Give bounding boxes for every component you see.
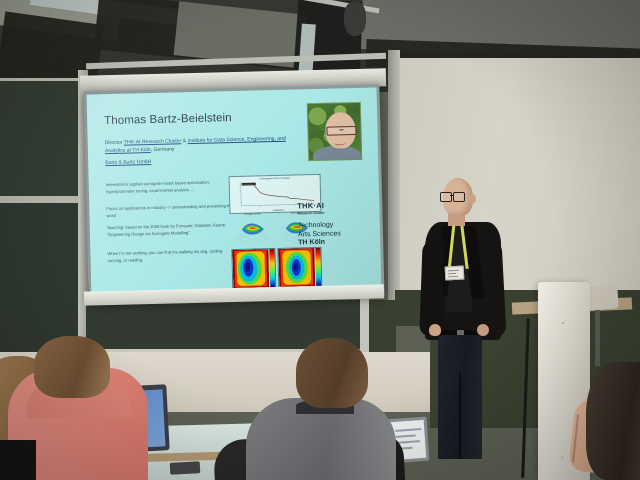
projection-screen: Thomas Bartz-Beielstein Director THK-AI … xyxy=(83,84,384,303)
heatmap-1-colorbar xyxy=(269,249,275,287)
slide-bullet-2: Focus on applications in industry -> und… xyxy=(106,203,234,219)
company-link[interactable]: Bartz & Bartz GmbH xyxy=(105,159,151,166)
th-koeln-logo: Technology Arts Sciences TH Köln xyxy=(298,221,371,248)
desk-leg xyxy=(595,310,600,366)
projector-icon xyxy=(344,2,366,36)
slide-bullet-1: Interested in applied surrogate-model ba… xyxy=(106,179,234,195)
glasses-icon xyxy=(326,126,356,136)
slide-company: Bartz & Bartz GmbH xyxy=(105,159,151,168)
screen-text-line xyxy=(396,440,420,443)
presenter-left-arm xyxy=(419,240,444,337)
screen-text-line xyxy=(396,434,416,437)
slide-title: Thomas Bartz-Beielstein xyxy=(104,112,232,127)
affiliation-link-cluster[interactable]: THK-AI Research Cluster xyxy=(124,138,182,145)
presenter-ear xyxy=(469,194,476,204)
presenter xyxy=(415,178,520,460)
presenter-leg-seam xyxy=(459,373,461,459)
presenter-left-hand xyxy=(429,324,441,336)
screen-text-line xyxy=(395,428,421,431)
glasses-icon xyxy=(440,192,466,200)
slide-bullet-4: When I'm not working, you can find me wa… xyxy=(107,248,235,264)
affiliation-suffix: , Germany xyxy=(151,146,175,153)
slide-bullet-3: Teaching: based on the 2008 book by Forr… xyxy=(107,222,235,238)
slide-affiliation: Director THK-AI Research Cluster & Insti… xyxy=(105,136,295,156)
surface-plot-1-svg xyxy=(232,216,275,247)
audience-member-right-edge xyxy=(586,362,640,480)
heatmap-1-body xyxy=(232,249,269,288)
smartphone[interactable] xyxy=(170,461,201,475)
heatmap-2-body xyxy=(278,248,315,287)
audience-head-brown-hair xyxy=(34,336,110,398)
audience-head-short-hair xyxy=(296,338,368,408)
slide-headshot xyxy=(307,102,362,161)
wall-edge xyxy=(388,50,400,325)
foreground-dark-shape xyxy=(0,440,36,480)
lecture-hall-photo: Thomas Bartz-Beielstein Director THK-AI … xyxy=(0,0,640,480)
logo-line-3: TH Köln xyxy=(298,238,370,248)
thk-logo-block: THK·AI Research Cluster Technology Arts … xyxy=(297,200,370,248)
surface-plot-1: surrogate surface xyxy=(232,216,275,247)
thk-ai-sub: Research Cluster xyxy=(297,210,369,216)
svg-text:evaluations: evaluations xyxy=(273,209,285,212)
name-badge xyxy=(445,266,465,281)
heatmap-1-svg xyxy=(232,249,269,288)
chalkboard-small xyxy=(366,300,396,355)
heatmap-2-colorbar xyxy=(315,248,321,286)
heatmap-1 xyxy=(231,248,276,289)
presenter-right-hand xyxy=(477,324,489,336)
presentation-slide: Thomas Bartz-Beielstein Director THK-AI … xyxy=(87,87,382,298)
affiliation-prefix: Director xyxy=(105,140,124,146)
lectern-mark: + xyxy=(560,455,564,462)
lectern-screw xyxy=(562,322,564,324)
heatmap-2-svg xyxy=(278,248,315,287)
thk-ai-mark: THK·AI xyxy=(297,200,369,211)
finger-crease xyxy=(572,415,579,463)
heatmap-2 xyxy=(277,247,322,288)
